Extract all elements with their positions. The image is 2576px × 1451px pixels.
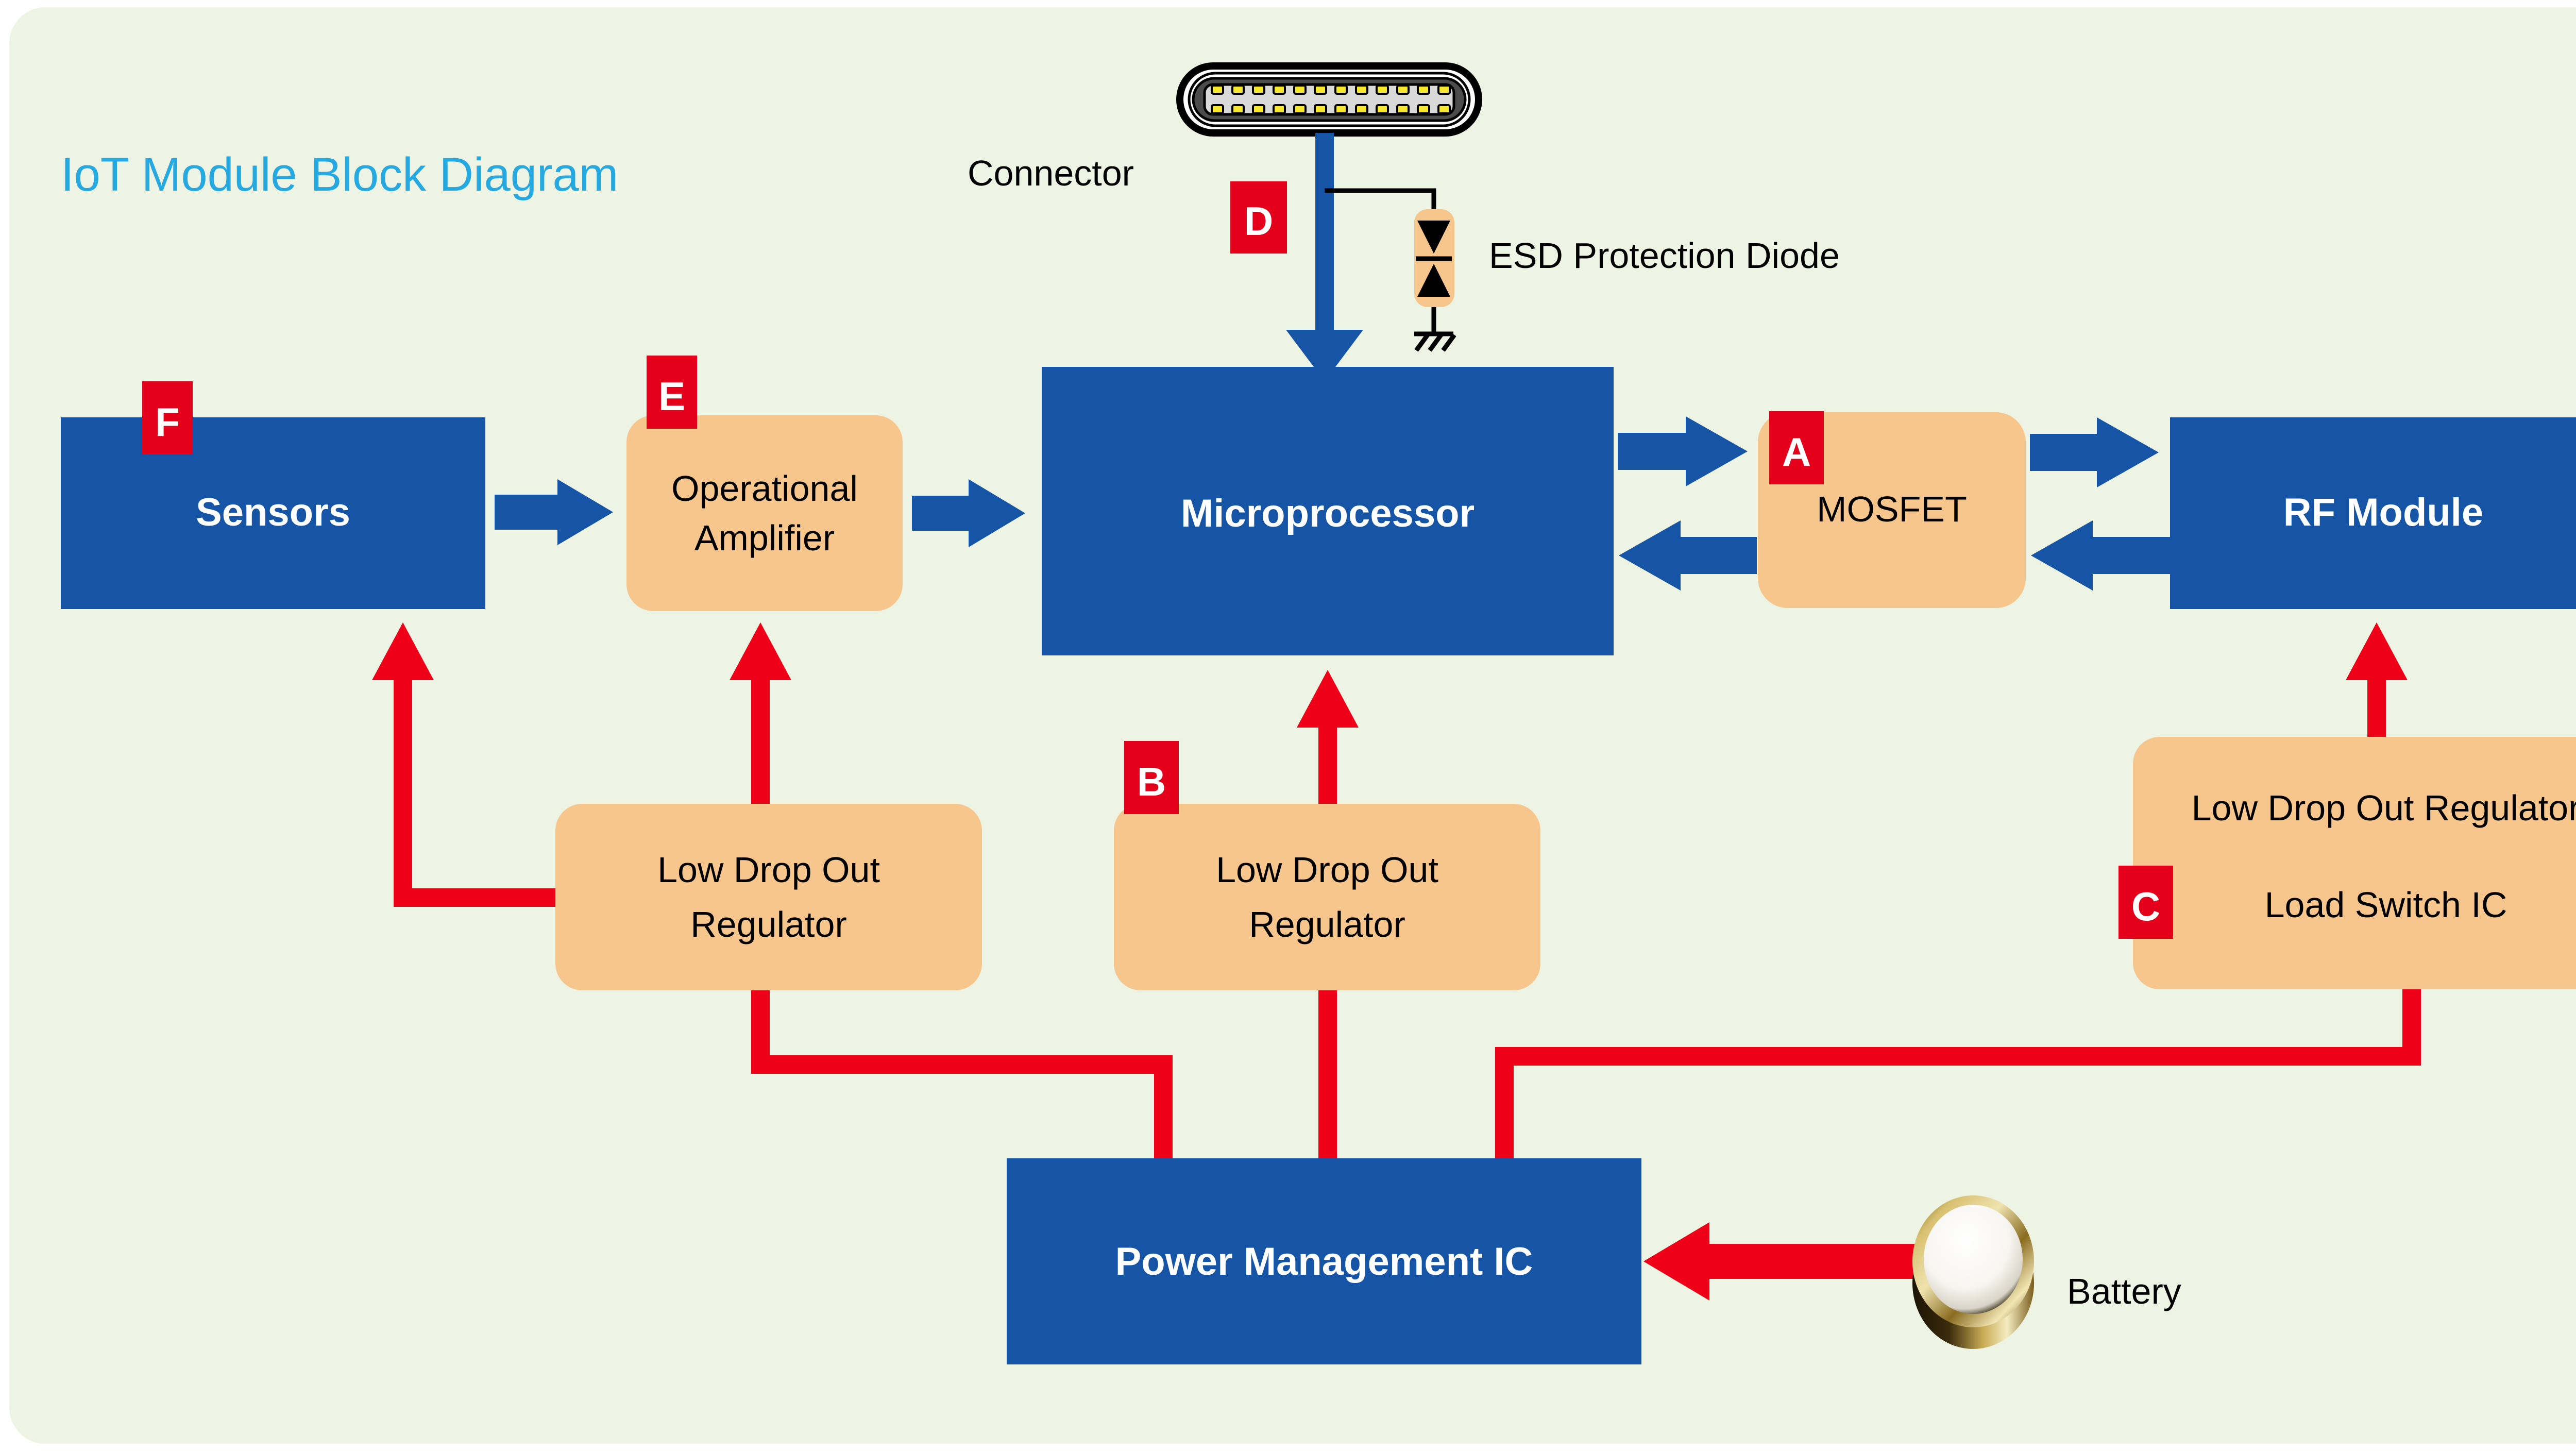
callout-badge-c-letter: C [2131, 884, 2160, 929]
block-opamp-rect [626, 415, 903, 611]
battery-to-pmic-arrow [1643, 1222, 1927, 1301]
block-ldo-mid-rect [1114, 804, 1540, 990]
block-ldo-mid-label-line2: Regulator [1249, 904, 1405, 944]
callout-badge-a-letter: A [1782, 429, 1811, 475]
callout-badge-e[interactable]: E [647, 356, 697, 429]
block-sensors-label: Sensors [196, 491, 350, 534]
block-load-switch-label: Load Switch IC [2265, 885, 2507, 925]
block-ldo-right-rect [2133, 737, 2576, 989]
battery-top-face [1924, 1205, 2023, 1314]
connector-component[interactable] [1180, 66, 1479, 133]
power-ldoleft-to-opamp [730, 622, 791, 804]
opamp-to-microprocessor-arrow [912, 479, 1025, 547]
block-mosfet-label: MOSFET [1817, 489, 1967, 529]
connector-to-microprocessor-arrow [1286, 133, 1363, 381]
block-operational-amplifier[interactable]: Operational Amplifier [626, 415, 903, 611]
block-ldo-left-label-line1: Low Drop Out [657, 850, 880, 890]
block-microprocessor[interactable]: Microprocessor [1042, 367, 1614, 655]
block-opamp-label-line1: Operational [671, 468, 858, 509]
esd-top-label: ESD Protection Diode [1489, 235, 1840, 276]
block-microprocessor-label: Microprocessor [1181, 492, 1475, 535]
battery-component [1912, 1195, 2034, 1349]
esd-top-ground-icon [1414, 334, 1454, 350]
power-ldoleft-to-opamp-arrowhead [730, 622, 791, 680]
power-ldomid-to-microprocessor-arrowhead [1297, 670, 1359, 728]
block-pmic[interactable]: Power Management IC [1007, 1158, 1641, 1364]
battery-label: Battery [2067, 1271, 2181, 1311]
esd-top-diode [1414, 209, 1454, 350]
battery-to-pmic-arrowhead [1643, 1222, 1709, 1301]
power-pmic-to-ldoright [1504, 989, 2412, 1158]
block-ldo-mid-label-line1: Low Drop Out [1216, 850, 1438, 890]
power-ldomid-to-microprocessor [1297, 670, 1359, 809]
rfmodule-to-mosfet-arrow [2031, 520, 2170, 590]
callout-badge-f[interactable]: F [142, 381, 193, 454]
callout-badge-d-letter: D [1244, 198, 1273, 244]
callout-badge-d[interactable]: D [1230, 181, 1287, 254]
power-ldoleft-to-sensors [372, 622, 555, 898]
callout-badge-e-letter: E [658, 374, 685, 419]
block-opamp-label-line2: Amplifier [694, 518, 835, 558]
block-ldo-mid[interactable]: Low Drop Out Regulator [1114, 804, 1540, 990]
block-ldo-left[interactable]: Low Drop Out Regulator [555, 804, 982, 990]
block-rf-module[interactable]: RF Module [2170, 417, 2576, 609]
callout-badge-b[interactable]: B [1124, 741, 1179, 814]
page-title: IoT Module Block Diagram [61, 148, 618, 201]
block-diagram-svg: IoT Module Block Diagram [0, 0, 2576, 1451]
block-ldo-left-rect [555, 804, 982, 990]
block-pmic-label: Power Management IC [1115, 1240, 1533, 1284]
callout-badge-a[interactable]: A [1769, 411, 1824, 484]
block-ldo-left-label-line2: Regulator [690, 904, 847, 944]
power-pmic-to-ldoleft [760, 989, 1163, 1158]
block-rfmodule-label: RF Module [2283, 491, 2483, 534]
mosfet-to-microprocessor-arrow [1619, 520, 1757, 590]
callout-badge-b-letter: B [1137, 759, 1166, 804]
sensors-to-opamp-arrow [495, 479, 613, 545]
power-ldoright-to-rfmodule [2346, 622, 2408, 737]
diagram-canvas: IoT Module Block Diagram [0, 0, 2576, 1451]
mosfet-to-rfmodule-arrow [2030, 417, 2159, 487]
block-ldo-right-label: Low Drop Out Regulator [2192, 788, 2576, 828]
callout-badge-f-letter: F [155, 399, 180, 445]
power-ldoleft-to-sensors-arrowhead [372, 622, 434, 680]
block-ldo-right-load-switch[interactable]: Low Drop Out Regulator Load Switch IC [2133, 737, 2576, 989]
block-sensors[interactable]: Sensors [61, 417, 485, 609]
microprocessor-to-mosfet-arrow [1618, 416, 1748, 486]
power-ldoright-to-rfmodule-arrowhead [2346, 622, 2408, 680]
connector-label: Connector [968, 153, 1134, 193]
callout-badge-c[interactable]: C [2119, 866, 2173, 939]
